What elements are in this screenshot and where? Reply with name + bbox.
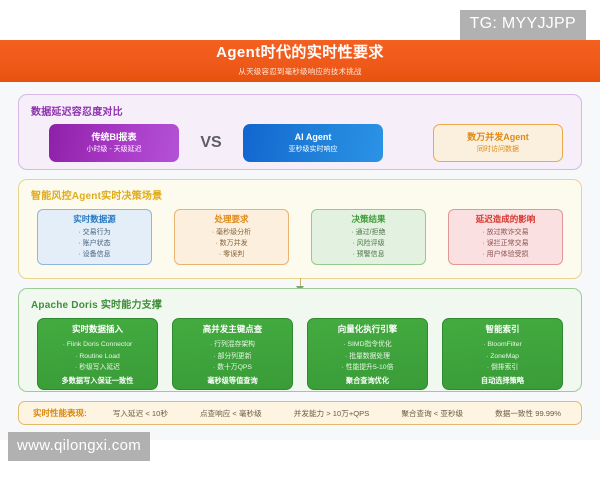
doris-card-row: 实时数据插入 Flink Doris Connector Routine Loa… <box>31 318 569 390</box>
card-traditional-bi-title: 传统BI报表 <box>91 133 136 143</box>
metric-aggregate-query: 聚合查询 < 亚秒级 <box>401 408 463 419</box>
website-watermark: www.qilongxi.com <box>8 432 150 461</box>
card-traditional-bi[interactable]: 传统BI报表 小时级 - 天级延迟 <box>49 124 179 162</box>
doris-card-point-query[interactable]: 高并发主键点查 行列混存架构 部分列更新 数十万QPS 毫秒级等值查询 <box>172 318 293 390</box>
list-item: 账户状态 <box>42 239 147 250</box>
scenario-card-requirements-list: 毫秒级分析 数万并发 零误判 <box>179 228 284 261</box>
doris-card-realtime-insert-footer: 多数据写入保证一致性 <box>41 376 154 386</box>
metric-write-latency: 写入延迟 < 10秒 <box>113 408 168 419</box>
list-item: 毫秒级分析 <box>179 228 284 239</box>
doris-card-vectorized-engine-footer: 聚合查询优化 <box>311 376 424 386</box>
section-risk-control-scenario: 智能风控Agent实时决策场景 实时数据源 交易行为 账户状态 设备信息 处理要… <box>18 179 582 279</box>
doris-card-realtime-insert-list: Flink Doris Connector Routine Load 秒级写入延… <box>41 339 154 373</box>
title-banner: Agent时代的实时性要求 从天级容忍到毫秒级响应的技术挑战 <box>0 40 600 82</box>
scenario-card-data-source-list: 交易行为 账户状态 设备信息 <box>42 228 147 261</box>
list-item: 风险评级 <box>316 239 421 250</box>
section-title-scenario: 智能风控Agent实时决策场景 <box>31 187 569 202</box>
doris-card-smart-index-list: BloomFilter ZoneMap 倒排索引 <box>446 339 559 373</box>
scenario-card-latency-impact-list: 放过欺诈交易 误拦正常交易 用户体验受损 <box>453 228 558 261</box>
card-ai-agent[interactable]: AI Agent 亚秒级实时响应 <box>243 124 383 162</box>
list-item: 倒排索引 <box>446 362 559 373</box>
scenario-card-requirements-title: 处理要求 <box>179 215 284 224</box>
list-item: 批量数据处理 <box>311 351 424 362</box>
list-item: 性能提升5-10倍 <box>311 362 424 373</box>
doris-card-realtime-insert[interactable]: 实时数据插入 Flink Doris Connector Routine Loa… <box>37 318 158 390</box>
list-item: ZoneMap <box>446 351 559 362</box>
list-item: 用户体验受损 <box>453 250 558 261</box>
metric-point-query: 点查响应 < 毫秒级 <box>200 408 262 419</box>
metrics-items: 写入延迟 < 10秒 点查响应 < 毫秒级 并发能力 > 10万+QPS 聚合查… <box>113 408 567 419</box>
doris-card-vectorized-engine-list: SIMD指令优化 批量数据处理 性能提升5-10倍 <box>311 339 424 373</box>
section-latency-comparison: 数据延迟容忍度对比 传统BI报表 小时级 - 天级延迟 VS AI Agent … <box>18 94 582 170</box>
scenario-card-requirements[interactable]: 处理要求 毫秒级分析 数万并发 零误判 <box>174 209 289 265</box>
list-item: BloomFilter <box>446 339 559 350</box>
card-concurrent-agents-sub: 同时访问数据 <box>477 146 519 154</box>
vs-label: VS <box>179 134 243 152</box>
doris-card-smart-index-title: 智能索引 <box>446 325 559 334</box>
section-doris-capabilities: Apache Doris 实时能力支撑 实时数据插入 Flink Doris C… <box>18 288 582 392</box>
metrics-label: 实时性能表现: <box>33 407 87 419</box>
list-item: 误拦正常交易 <box>453 239 558 250</box>
latency-comparison-row: 传统BI报表 小时级 - 天级延迟 VS AI Agent 亚秒级实时响应 数万… <box>31 124 569 162</box>
card-concurrent-agents[interactable]: 数万并发Agent 同时访问数据 <box>433 124 563 162</box>
scenario-card-data-source[interactable]: 实时数据源 交易行为 账户状态 设备信息 <box>37 209 152 265</box>
doris-card-vectorized-engine-title: 向量化执行引擎 <box>311 325 424 334</box>
list-item: 部分列更新 <box>176 351 289 362</box>
list-item: 行列混存架构 <box>176 339 289 350</box>
list-item: Flink Doris Connector <box>41 339 154 350</box>
doris-card-realtime-insert-title: 实时数据插入 <box>41 325 154 334</box>
list-item: 通过/拒绝 <box>316 228 421 239</box>
list-item: 设备信息 <box>42 250 147 261</box>
slide-canvas: TG: MYYJJPP Agent时代的实时性要求 从天级容忍到毫秒级响应的技术… <box>0 0 600 480</box>
scenario-card-data-source-title: 实时数据源 <box>42 215 147 224</box>
list-item: 放过欺诈交易 <box>453 228 558 239</box>
metric-consistency: 数据一致性 99.99% <box>495 408 561 419</box>
page-title: Agent时代的实时性要求 <box>216 45 384 62</box>
doris-card-point-query-title: 高并发主键点查 <box>176 325 289 334</box>
list-item: 数十万QPS <box>176 362 289 373</box>
list-item: 交易行为 <box>42 228 147 239</box>
performance-metrics-bar: 实时性能表现: 写入延迟 < 10秒 点查响应 < 毫秒级 并发能力 > 10万… <box>18 401 582 425</box>
card-ai-agent-sub: 亚秒级实时响应 <box>289 146 338 154</box>
slide-body: 数据延迟容忍度对比 传统BI报表 小时级 - 天级延迟 VS AI Agent … <box>0 82 600 440</box>
list-item: 预警信息 <box>316 250 421 261</box>
list-item: 数万并发 <box>179 239 284 250</box>
card-traditional-bi-sub: 小时级 - 天级延迟 <box>86 146 141 154</box>
list-item: SIMD指令优化 <box>311 339 424 350</box>
doris-card-point-query-list: 行列混存架构 部分列更新 数十万QPS <box>176 339 289 373</box>
doris-card-smart-index[interactable]: 智能索引 BloomFilter ZoneMap 倒排索引 自动选择策略 <box>442 318 563 390</box>
section-title-doris: Apache Doris 实时能力支撑 <box>31 296 569 311</box>
doris-card-vectorized-engine[interactable]: 向量化执行引擎 SIMD指令优化 批量数据处理 性能提升5-10倍 聚合查询优化 <box>307 318 428 390</box>
card-concurrent-agents-title: 数万并发Agent <box>467 133 529 143</box>
scenario-card-latency-impact[interactable]: 延迟造成的影响 放过欺诈交易 误拦正常交易 用户体验受损 <box>448 209 563 265</box>
scenario-card-decision-result-title: 决策结果 <box>316 215 421 224</box>
card-ai-agent-title: AI Agent <box>295 133 332 143</box>
page-subtitle: 从天级容忍到毫秒级响应的技术挑战 <box>238 66 361 77</box>
doris-card-smart-index-footer: 自动选择策略 <box>446 376 559 386</box>
scenario-card-row: 实时数据源 交易行为 账户状态 设备信息 处理要求 毫秒级分析 数万并发 零误判 <box>31 209 569 265</box>
list-item: Routine Load <box>41 351 154 362</box>
list-item: 秒级写入延迟 <box>41 362 154 373</box>
section-title-latency: 数据延迟容忍度对比 <box>31 103 569 118</box>
metric-concurrency: 并发能力 > 10万+QPS <box>294 408 370 419</box>
scenario-card-decision-result-list: 通过/拒绝 风险评级 预警信息 <box>316 228 421 261</box>
scenario-card-decision-result[interactable]: 决策结果 通过/拒绝 风险评级 预警信息 <box>311 209 426 265</box>
list-item: 零误判 <box>179 250 284 261</box>
doris-card-point-query-footer: 毫秒级等值查询 <box>176 376 289 386</box>
telegram-watermark: TG: MYYJJPP <box>460 10 586 40</box>
scenario-card-latency-impact-title: 延迟造成的影响 <box>453 215 558 224</box>
